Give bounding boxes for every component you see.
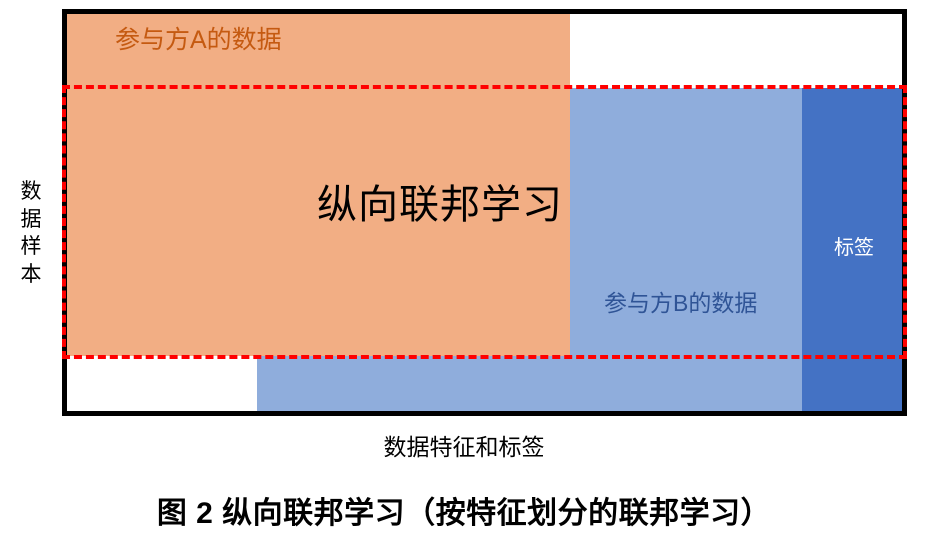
frame-right-rule — [902, 9, 907, 416]
y-axis-title: 数 据 样 本 — [14, 178, 48, 289]
x-axis-title: 数据特征和标签 — [0, 428, 928, 462]
party-b-data-block-lower — [257, 356, 802, 414]
y-axis-char-4: 本 — [14, 261, 48, 289]
label-column-block-upper — [802, 88, 906, 356]
party-a-data-label: 参与方A的数据 — [115, 27, 282, 55]
y-axis-char-3: 样 — [14, 233, 48, 261]
frame-left-rule — [62, 9, 67, 416]
y-axis-char-1: 数 — [14, 178, 48, 206]
label-column-block-lower — [802, 356, 906, 414]
frame-bottom-rule — [62, 411, 907, 416]
frame-top-rule — [62, 9, 907, 14]
figure-canvas: 参与方A的数据 纵向联邦学习 参与方B的数据 标签 数 据 样 本 数据特征和标… — [0, 0, 928, 548]
vertical-federated-learning-label: 纵向联邦学习 — [317, 183, 563, 227]
y-axis-char-2: 据 — [14, 206, 48, 234]
party-b-data-label: 参与方B的数据 — [604, 291, 757, 316]
label-column-label: 标签 — [834, 237, 874, 259]
figure-caption: 图 2 纵向联邦学习（按特征划分的联邦学习） — [0, 488, 928, 532]
